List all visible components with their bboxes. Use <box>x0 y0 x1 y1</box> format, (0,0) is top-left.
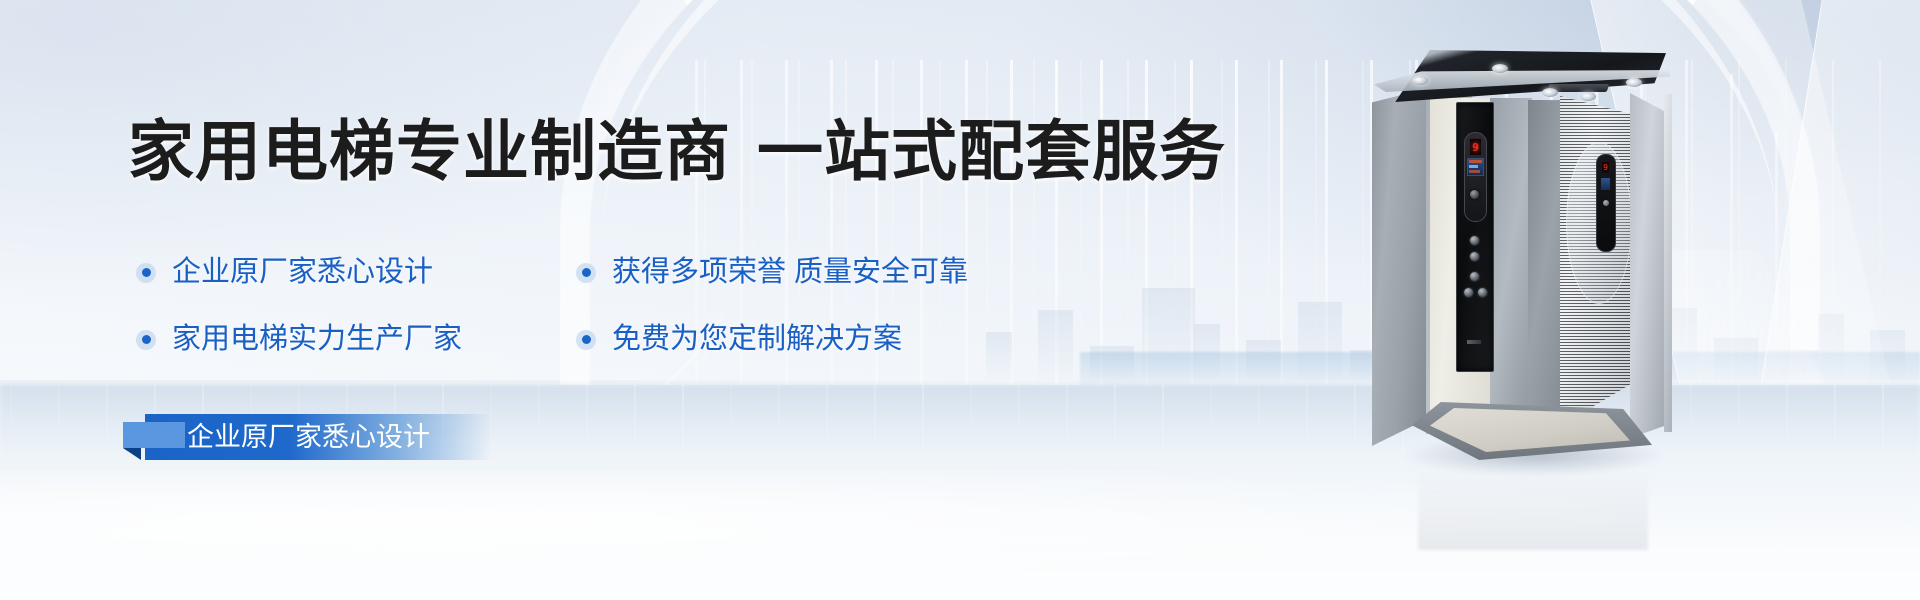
bullet-dot-icon <box>136 330 156 350</box>
bullet-label-4: 免费为您定制解决方案 <box>612 325 902 354</box>
bullet-label-3: 家用电梯实力生产厂家 <box>172 325 462 354</box>
bullet-item-3: 家用电梯实力生产厂家 <box>136 325 576 354</box>
bullet-dot-icon <box>576 263 596 283</box>
headline-part-1: 家用电梯专业制造商 <box>128 114 731 188</box>
folded-tag-icon <box>123 422 185 448</box>
bullet-item-2: 获得多项荣誉 质量安全可靠 <box>576 258 968 287</box>
hero-banner: 9 9 <box>0 0 1920 600</box>
bullet-item-1: 企业原厂家悉心设计 <box>136 258 576 287</box>
tag-fold-icon <box>123 448 141 460</box>
bullet-item-4: 免费为您定制解决方案 <box>576 325 902 354</box>
ribbon-label: 企业原厂家悉心设计 <box>187 422 430 452</box>
banner-content: 家用电梯专业制造商一站式配套服务 企业原厂家悉心设计 获得多项荣誉 质量安全可靠… <box>0 0 1920 600</box>
bullet-label-1: 企业原厂家悉心设计 <box>172 258 433 287</box>
page-title: 家用电梯专业制造商一站式配套服务 <box>128 118 1226 184</box>
bullet-row-2: 家用电梯实力生产厂家 免费为您定制解决方案 <box>136 325 1096 354</box>
bullet-dot-icon <box>136 263 156 283</box>
bullet-label-2: 获得多项荣誉 质量安全可靠 <box>612 258 968 287</box>
feature-bullet-list: 企业原厂家悉心设计 获得多项荣誉 质量安全可靠 家用电梯实力生产厂家 免费为您定… <box>136 258 1096 392</box>
highlight-ribbon[interactable]: 企业原厂家悉心设计 <box>145 414 490 460</box>
bullet-dot-icon <box>576 330 596 350</box>
bullet-row-1: 企业原厂家悉心设计 获得多项荣誉 质量安全可靠 <box>136 258 1096 287</box>
headline-part-2: 一站式配套服务 <box>757 114 1226 188</box>
